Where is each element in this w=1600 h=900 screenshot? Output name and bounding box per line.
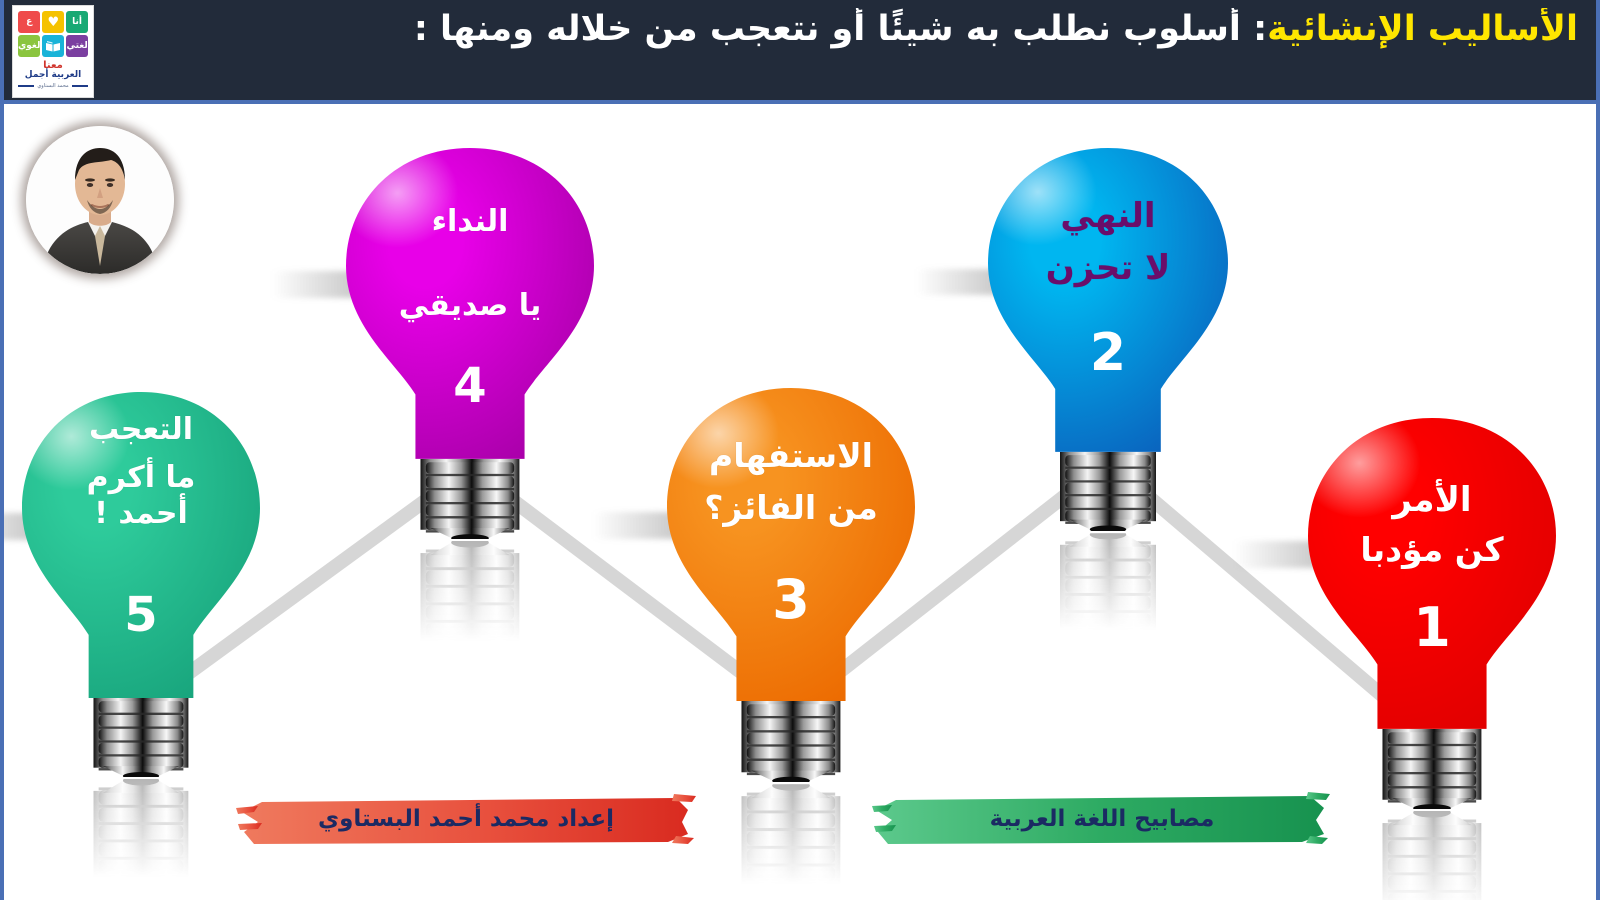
bulb-glass: الأمر كن مؤدبا 1: [1308, 418, 1556, 729]
bulb-number: 5: [22, 587, 260, 643]
bulb-example-line: كن مؤدبا: [1308, 530, 1556, 570]
bulb-title: النداء: [346, 204, 594, 240]
bulb-screw-base: [1382, 729, 1481, 809]
bulb-screw-base: [1060, 452, 1156, 531]
bulb-5[interactable]: التعجب ما أكرم أحمد ! 5: [22, 392, 260, 698]
bulb-example-line: لا تحزن: [988, 248, 1228, 289]
header-bar: الأساليب الإنشائية: أسلوب نطلب به شيئًا …: [4, 0, 1596, 104]
logo-tile-grid: أنا ♥ ع لغتي: [18, 11, 88, 57]
brand-logo[interactable]: أنا ♥ ع لغتي: [12, 5, 94, 98]
bulb-glass: التعجب ما أكرم أحمد ! 5: [22, 392, 260, 698]
bulb-title: النهي: [988, 196, 1228, 237]
logo-tile-ana: أنا: [66, 11, 88, 33]
page-title-highlight: الأساليب الإنشائية: [1267, 9, 1578, 49]
bulb-number: 2: [988, 323, 1228, 383]
bulb-1[interactable]: الأمر كن مؤدبا 1: [1308, 418, 1556, 729]
bulb-screw-base: [420, 459, 519, 539]
bulb-example: ما أكرم أحمد !: [22, 460, 260, 532]
logo-caption-bottom: العربية أجمل: [18, 71, 88, 81]
logo-tile-lughawi: لغوي: [18, 35, 40, 57]
logo-tile-label: لغوي: [18, 42, 40, 51]
bulb-glass: النهي لا تحزن 2: [988, 148, 1228, 452]
logo-rule-left: [72, 85, 88, 87]
page-title: الأساليب الإنشائية: أسلوب نطلب به شيئًا …: [114, 8, 1578, 52]
bulb-glass: النداء يا صديقي 4: [346, 148, 594, 459]
bulb-example: يا صديقي: [346, 288, 594, 324]
banner-series-text: مصابيح اللغة العربية: [990, 806, 1215, 832]
avatar: [26, 126, 174, 274]
bulb-number: 3: [667, 568, 915, 631]
page-title-rest: : أسلوب نطلب به شيئًا أو نتعجب من خلاله …: [414, 9, 1267, 49]
bulb-example: كن مؤدبا: [1308, 530, 1556, 570]
heart-icon: ♥: [42, 11, 64, 33]
bulb-number: 1: [1308, 596, 1556, 659]
bulb-title: التعجب: [22, 412, 260, 448]
bulb-example: لا تحزن: [988, 248, 1228, 289]
bulb-screw-base: [93, 698, 188, 777]
bulb-example-line: من الفائز؟: [667, 488, 915, 528]
bulb-3[interactable]: الاستفهام من الفائز؟ 3: [667, 388, 915, 701]
logo-tile-ain: ع: [18, 11, 40, 33]
banner-author: إعداد محمد أحمد البستاوي: [236, 788, 696, 850]
logo-tile-label: ع: [26, 18, 32, 27]
bulb-reflection: [93, 779, 188, 878]
bulb-reflection: [1382, 811, 1481, 900]
bulb-example: من الفائز؟: [667, 488, 915, 528]
bulb-number: 4: [346, 358, 594, 414]
bulb-2[interactable]: النهي لا تحزن 2: [988, 148, 1228, 452]
bulb-title: الأمر: [1308, 480, 1556, 521]
bulb-example-line: يا صديقي: [346, 288, 594, 324]
logo-caption-tiny: محمد البستاوي: [37, 83, 68, 89]
banner-series: مصابيح اللغة العربية: [872, 788, 1332, 850]
bulb-reflection: [1060, 533, 1156, 631]
logo-tile-label: ♥: [47, 16, 59, 29]
logo-footer-rule: محمد البستاوي: [18, 83, 88, 89]
bulb-glass: الاستفهام من الفائز؟ 3: [667, 388, 915, 701]
logo-tile-lughati: لغتي: [66, 35, 88, 57]
slide-canvas: الأساليب الإنشائية: أسلوب نطلب به شيئًا …: [0, 0, 1600, 900]
bulb-example-line: أحمد !: [22, 496, 260, 532]
bulb-reflection: [741, 784, 840, 885]
bulb-screw-base: [741, 701, 840, 782]
book-icon: [42, 35, 64, 57]
logo-tile-label: لغتي: [66, 42, 87, 51]
bulb-example-line: ما أكرم: [22, 460, 260, 496]
logo-rule-right: [18, 85, 34, 87]
bulb-4[interactable]: النداء يا صديقي 4: [346, 148, 594, 459]
banner-author-text: إعداد محمد أحمد البستاوي: [318, 806, 614, 832]
bulb-reflection: [420, 541, 519, 642]
logo-tile-label: أنا: [72, 18, 82, 27]
bulb-title: الاستفهام: [667, 436, 915, 476]
